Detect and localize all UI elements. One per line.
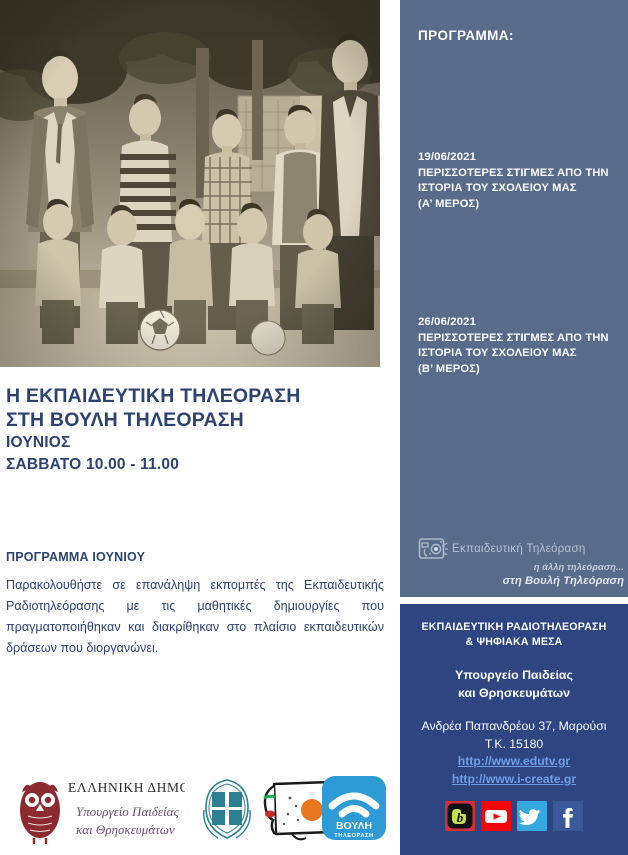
vouli-logo-line2: ΤΗΛΕΟΡΑΣΗ xyxy=(334,833,373,839)
poster-timeslot: ΣΑΒΒΑΤΟ 10.00 - 11.00 xyxy=(6,454,376,476)
program-entry-line3: (Α’ ΜΕΡΟΣ) xyxy=(418,197,624,213)
contact-panel: ΕΚΠΑΙΔΕΥΤΙΚΗ ΡΑΔΙΟΤΗΛΕΟΡΑΣΗ & ΨΗΦΙΑΚΑ ΜΕ… xyxy=(400,604,628,855)
svg-text:b: b xyxy=(457,810,464,825)
vouli-logo-line1: ΒΟΥΛΗ xyxy=(336,820,372,832)
svg-text:και Θρησκευμάτων: και Θρησκευμάτων xyxy=(76,822,175,837)
page-title-line1: Η ΕΚΠΑΙΔΕΥΤΙΚΗ ΤΗΛΕΟΡΑΣΗ xyxy=(6,384,376,408)
body-heading: ΠΡΟΓΡΑΜΜΑ ΙΟΥΝΙΟΥ xyxy=(6,550,384,564)
program-entry: 19/06/2021 ΠΕΡΙΣΣΟΤΕΡΕΣ ΣΤΙΓΜΕΣ ΑΠΟ ΤΗΝ … xyxy=(418,150,624,212)
poster-title-block: Η ΕΚΠΑΙΔΕΥΤΙΚΗ ΤΗΛΕΟΡΑΣΗ ΣΤΗ ΒΟΥΛΗ ΤΗΛΕΟ… xyxy=(6,384,376,476)
contact-ministry-line2: και Θρησκευμάτων xyxy=(400,685,628,703)
svg-text:Υπουργείο Παιδείας: Υπουργείο Παιδείας xyxy=(76,804,179,819)
program-entry-line1: ΠΕΡΙΣΣΟΤΕΡΕΣ ΣΤΙΓΜΕΣ ΑΠΟ ΤΗΝ xyxy=(418,166,624,182)
program-entry-line3: (Β’ ΜΕΡΟΣ) xyxy=(418,362,624,378)
contact-address-line1: Ανδρέα Παπανδρέου 37, Μαρούσι xyxy=(400,718,628,736)
contact-address-line2: Τ.Κ. 15180 xyxy=(400,736,628,754)
poster-month: ΙΟΥΝΙΟΣ xyxy=(6,432,376,454)
contact-org-line2: & ΨΗΦΙΑΚΑ ΜΕΣΑ xyxy=(400,635,628,650)
program-entry-line2: ΙΣΤΟΡΙΑ ΤΟΥ ΣΧΟΛΕΙΟΥ ΜΑΣ xyxy=(418,346,624,362)
edutv-website-link[interactable]: http://www.edutv.gr xyxy=(400,753,628,771)
svg-text:ΕΛΛΗΝΙΚΗ ΔΗΜΟΚΡΑΤΙΑ: ΕΛΛΗΝΙΚΗ ΔΗΜΟΚΡΑΤΙΑ xyxy=(68,780,185,795)
youtube-icon[interactable] xyxy=(481,801,511,831)
facebook-icon[interactable] xyxy=(553,801,583,831)
social-links-row: b xyxy=(400,801,628,831)
twitter-icon[interactable] xyxy=(517,801,547,831)
left-column: Η ΕΚΠΑΙΔΕΥΤΙΚΗ ΤΗΛΕΟΡΑΣΗ ΣΤΗ ΒΟΥΛΗ ΤΗΛΕΟ… xyxy=(0,0,392,855)
contact-organization: ΕΚΠΑΙΔΕΥΤΙΚΗ ΡΑΔΙΟΤΗΛΕΟΡΑΣΗ & ΨΗΦΙΑΚΑ ΜΕ… xyxy=(400,620,628,650)
tv-camera-icon xyxy=(418,536,448,561)
watermark-line1: Εκπαιδευτική Τηλεόραση xyxy=(452,543,586,555)
blogger-icon[interactable]: b xyxy=(445,801,475,831)
educational-tv-watermark: Εκπαιδευτική Τηλεόραση η άλλη τηλεόραση.… xyxy=(418,536,624,588)
contact-org-line1: ΕΚΠΑΙΔΕΥΤΙΚΗ ΡΑΔΙΟΤΗΛΕΟΡΑΣΗ xyxy=(400,620,628,635)
poster-body-block: ΠΡΟΓΡΑΜΜΑ ΙΟΥΝΙΟΥ Παρακολουθήστε σε επαν… xyxy=(6,550,384,659)
footer-logo-strip: ΕΛΛΗΝΙΚΗ ΔΗΜΟΚΡΑΤΙΑ Υπουργείο Παιδείας κ… xyxy=(0,762,392,855)
program-sidebar: ΠΡΟΓΡΑΜΜΑ: 19/06/2021 ΠΕΡΙΣΣΟΤΕΡΕΣ ΣΤΙΓΜ… xyxy=(400,0,628,597)
icreate-website-link[interactable]: http://www.i-create.gr xyxy=(400,771,628,789)
contact-address: Ανδρέα Παπανδρέου 37, Μαρούσι Τ.Κ. 15180 xyxy=(400,718,628,753)
page-title-line2: ΣΤΗ ΒΟΥΛΗ ΤΗΛΕΟΡΑΣΗ xyxy=(6,408,376,432)
program-entry-date: 19/06/2021 xyxy=(418,150,624,166)
poster-page: Η ΕΚΠΑΙΔΕΥΤΙΚΗ ΤΗΛΕΟΡΑΣΗ ΣΤΗ ΒΟΥΛΗ ΤΗΛΕΟ… xyxy=(0,0,628,855)
program-heading: ΠΡΟΓΡΑΜΜΑ: xyxy=(418,28,514,43)
program-entry-line1: ΠΕΡΙΣΣΟΤΕΡΕΣ ΣΤΙΓΜΕΣ ΑΠΟ ΤΗΝ xyxy=(418,331,624,347)
team-photograph xyxy=(0,0,380,367)
program-entry: 26/06/2021 ΠΕΡΙΣΣΟΤΕΡΕΣ ΣΤΙΓΜΕΣ ΑΠΟ ΤΗΝ … xyxy=(418,315,624,377)
body-paragraph: Παρακολουθήστε σε επανάληψη εκπομπές της… xyxy=(6,575,384,659)
vouli-tileorasi-logo: ΒΟΥΛΗ ΤΗΛΕΟΡΑΣΗ xyxy=(322,776,386,840)
contact-ministry: Υπουργείο Παιδείας και Θρησκευμάτων xyxy=(400,667,628,702)
program-entry-date: 26/06/2021 xyxy=(418,315,624,331)
watermark-line3: στη Βουλή Τηλεόραση xyxy=(418,575,624,587)
greek-coat-of-arms-logo xyxy=(196,774,258,844)
program-entry-line2: ΙΣΤΟΡΙΑ ΤΟΥ ΣΧΟΛΕΙΟΥ ΜΑΣ xyxy=(418,181,624,197)
contact-ministry-line1: Υπουργείο Παιδείας xyxy=(400,667,628,685)
hellenic-republic-logo: ΕΛΛΗΝΙΚΗ ΔΗΜΟΚΡΑΤΙΑ Υπουργείο Παιδείας κ… xyxy=(10,768,185,848)
watermark-line2: η άλλη τηλεόραση... xyxy=(418,562,624,572)
